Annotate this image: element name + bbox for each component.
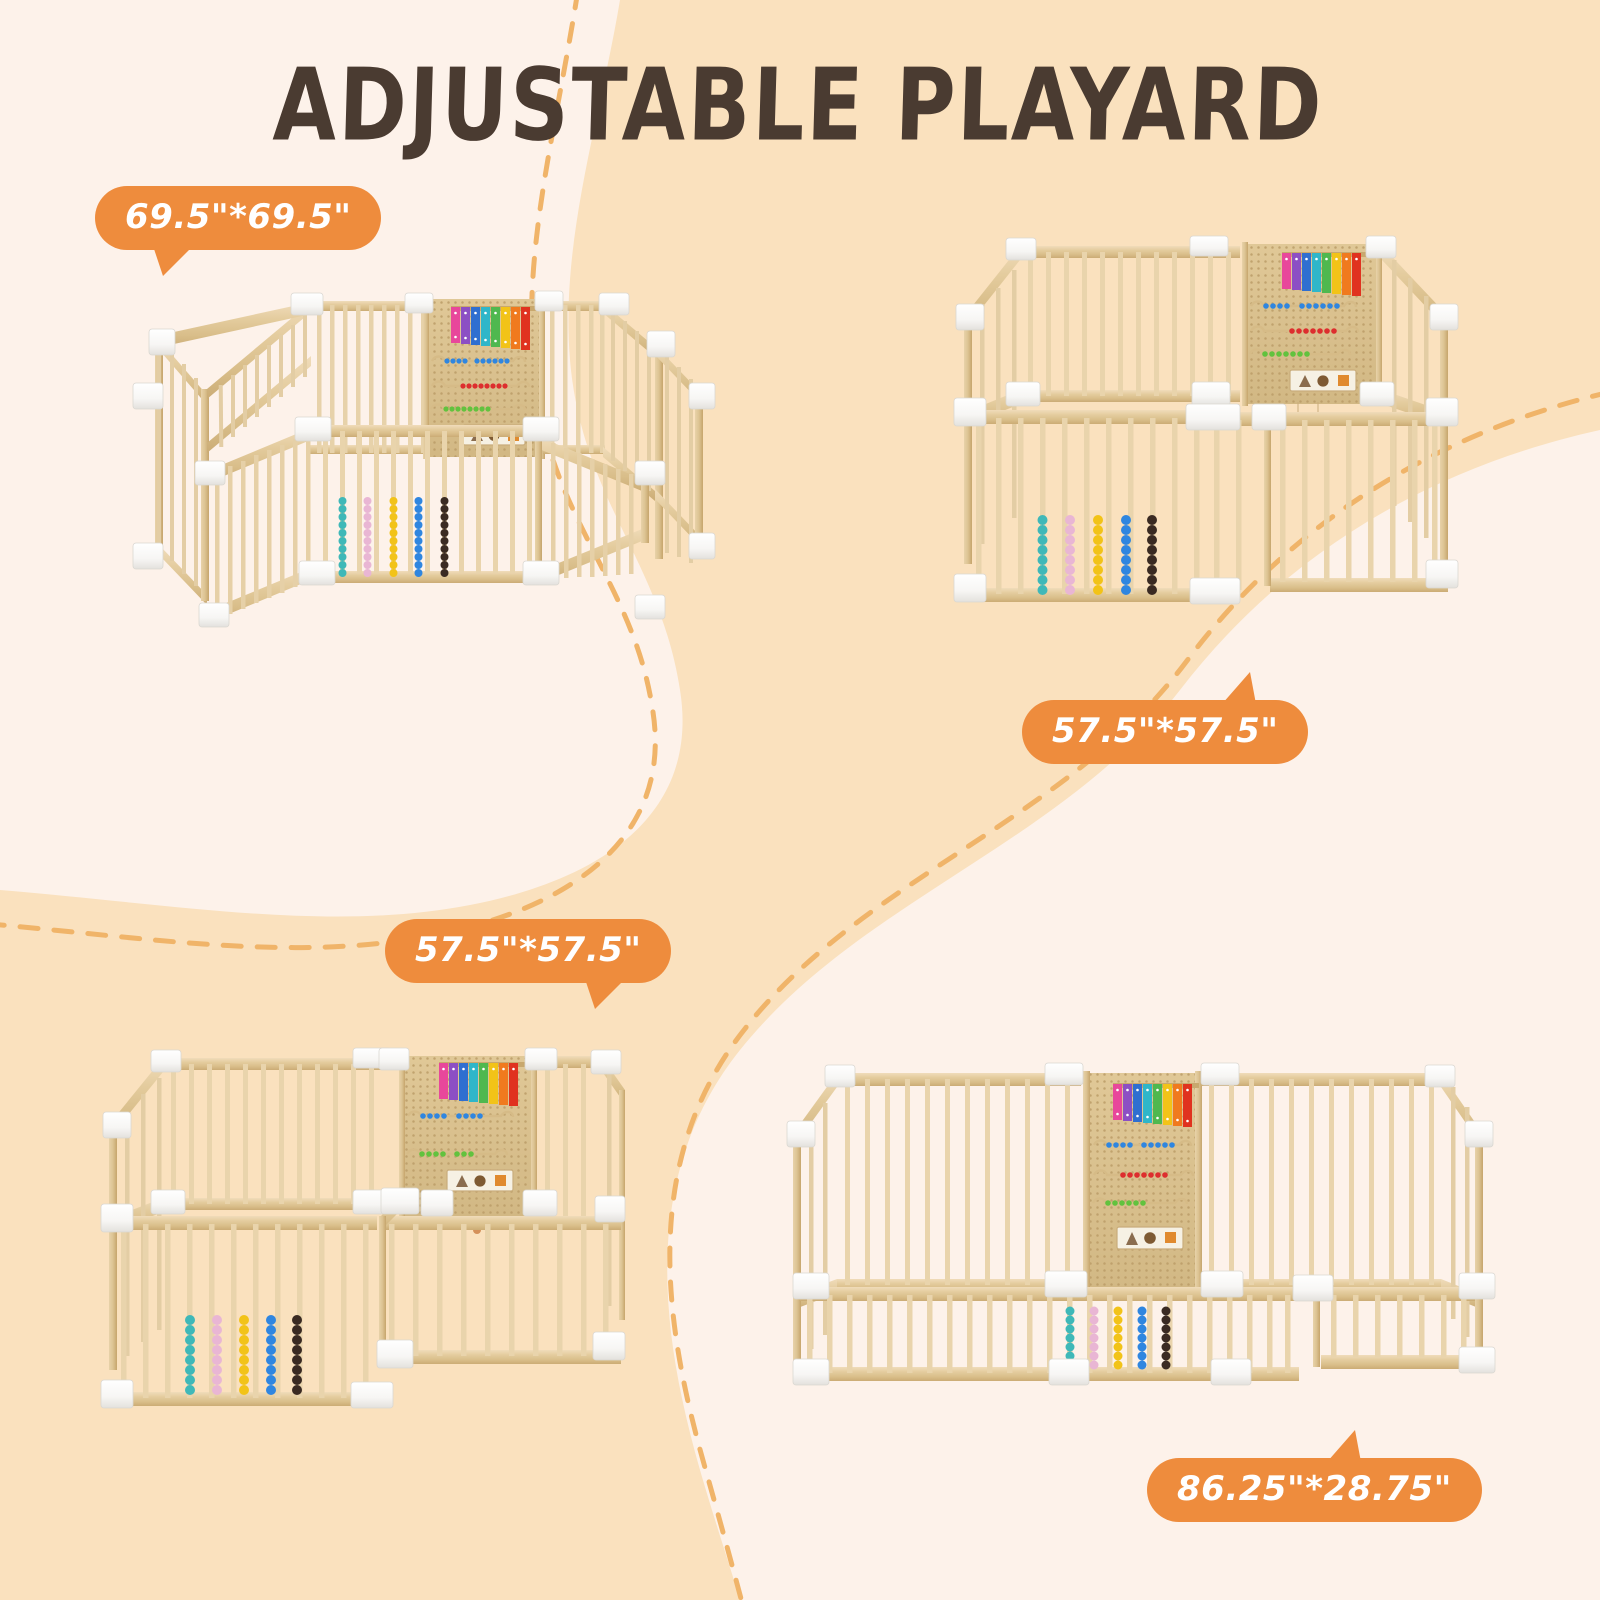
badge-label: 69.5"*69.5" <box>125 197 351 237</box>
playard-split[interactable] <box>95 1020 625 1420</box>
panel-front-right-gate[interactable] <box>1228 412 1448 592</box>
infographic-canvas: ADJUSTABLE PLAYARD <box>0 0 1600 1600</box>
panel-back-left <box>837 1073 1081 1292</box>
badge-tail-icon <box>585 979 625 1009</box>
panel-back-left <box>1020 246 1240 402</box>
page-title: ADJUSTABLE PLAYARD <box>0 48 1600 164</box>
playard-square[interactable] <box>940 230 1470 630</box>
xylophone-icon <box>1282 252 1368 296</box>
pen-right[interactable] <box>377 1048 625 1368</box>
badge-square-top: 57.5"*57.5" <box>1022 700 1308 764</box>
bead-counter <box>185 1315 302 1395</box>
badge-label: 57.5"*57.5" <box>415 930 641 970</box>
playard-wide[interactable] <box>765 1015 1505 1405</box>
panel-back-right <box>1201 1073 1441 1292</box>
badge-label: 86.25"*28.75" <box>1177 1469 1452 1509</box>
xylophone-icon <box>451 306 537 350</box>
panel-front-left-beads[interactable] <box>968 410 1226 602</box>
badge-octagon: 69.5"*69.5" <box>95 186 381 250</box>
badge-split: 57.5"*57.5" <box>385 919 671 983</box>
bead-counter <box>339 497 449 577</box>
activity-panel[interactable] <box>1083 1071 1202 1295</box>
shape-sorter-card <box>1117 1227 1183 1249</box>
playard-octagon[interactable] <box>95 285 695 630</box>
badge-tail-icon <box>1327 1430 1361 1462</box>
badge-tail-icon <box>153 246 193 276</box>
shape-sorter-card <box>1290 370 1356 391</box>
xylophone-icon <box>439 1062 525 1106</box>
activity-panel[interactable] <box>399 1054 537 1234</box>
shape-sorter-card <box>447 1170 513 1191</box>
xylophone-icon <box>1113 1083 1199 1127</box>
panel-front-left <box>207 427 313 623</box>
pen-left[interactable] <box>101 1048 393 1408</box>
bead-counter <box>1038 515 1158 595</box>
badge-label: 57.5"*57.5" <box>1052 711 1278 751</box>
badge-wide: 86.25"*28.75" <box>1147 1458 1482 1522</box>
badge-tail-icon <box>1222 672 1256 704</box>
